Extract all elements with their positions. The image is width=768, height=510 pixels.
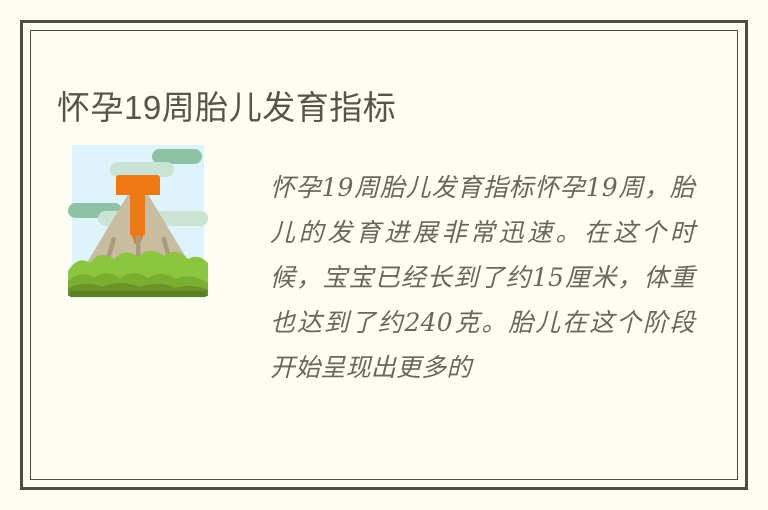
article-paragraph: 怀孕19周胎儿发育指标怀孕19周，胎儿的发育进展非常迅速。在这个时候，宝宝已经长… — [270, 165, 695, 390]
volcano-illustration — [68, 145, 208, 298]
page-root: 怀孕19周胎儿发育指标 — [0, 0, 768, 510]
volcano-icon — [68, 145, 208, 298]
page-title: 怀孕19周胎儿发育指标 — [57, 88, 396, 128]
article-content: 怀孕19周胎儿发育指标 — [30, 30, 738, 480]
